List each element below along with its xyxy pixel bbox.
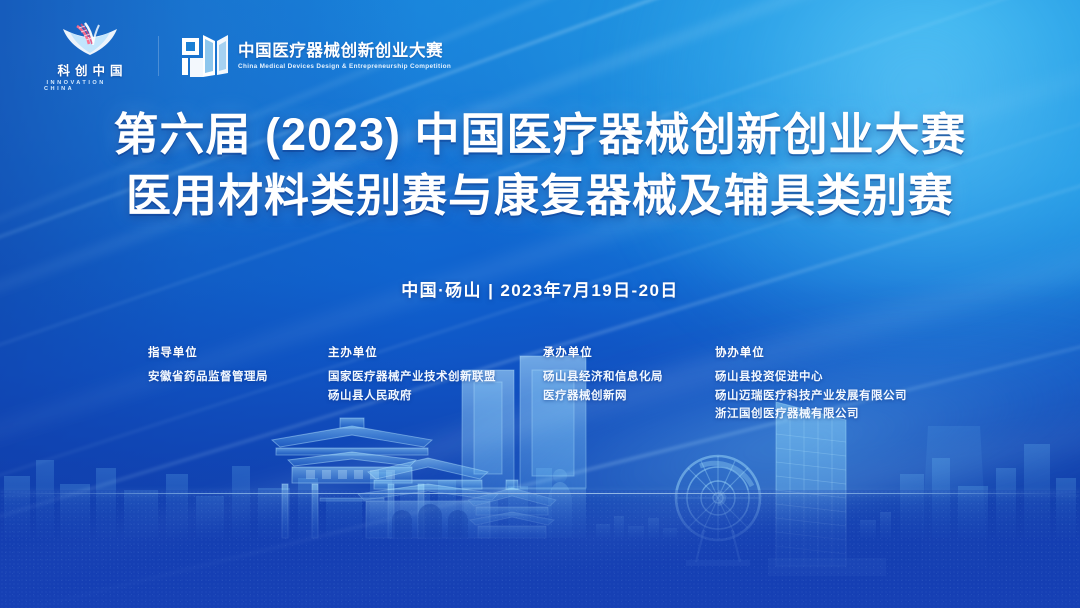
organizer-heading: 主办单位	[328, 344, 543, 360]
organizer-item: 砀山县人民政府	[328, 387, 543, 406]
organizer-item: 安徽省药品监督管理局	[148, 368, 328, 387]
event-location-date: 中国·砀山 | 2023年7月19日-20日	[0, 276, 1080, 301]
organizer-item: 砀山县经济和信息化局	[543, 368, 715, 387]
organizer-columns: 指导单位 安徽省药品监督管理局 主办单位 国家医疗器械产业技术创新联盟 砀山县人…	[148, 344, 1016, 424]
organizer-column-coorganizer: 协办单位 砀山县投资促进中心 砀山迈瑞医疗科技产业发展有限公司 浙江国创医疗器械…	[715, 344, 907, 424]
competition-name-en: China Medical Devices Design & Entrepren…	[238, 63, 451, 70]
organizer-column-guidance: 指导单位 安徽省药品监督管理局	[148, 344, 328, 424]
organizer-item: 国家医疗器械产业技术创新联盟	[328, 368, 543, 387]
innovation-china-cn: 科创中国	[52, 60, 127, 79]
organizer-heading: 协办单位	[715, 344, 907, 360]
organizer-item: 浙江国创医疗器械有限公司	[715, 405, 907, 424]
innovation-china-en: INNOVATION CHINA	[44, 80, 136, 92]
open-door-gateway-icon	[181, 33, 229, 79]
phoenix-dna-ribbon-icon	[59, 20, 121, 58]
organizer-item: 砀山县投资促进中心	[715, 368, 907, 387]
title-line-2: 医用材料类别赛与康复器械及辅具类别赛	[0, 165, 1080, 226]
innovation-china-logo: 科创中国 INNOVATION CHINA	[44, 20, 136, 92]
poster-title-block: 第六届 (2023) 中国医疗器械创新创业大赛 医用材料类别赛与康复器械及辅具类…	[0, 104, 1080, 226]
organizer-item: 砀山迈瑞医疗科技产业发展有限公司	[715, 387, 907, 406]
competition-logo: 中国医疗器械创新创业大赛 China Medical Devices Desig…	[181, 33, 451, 79]
header-logo-row: 科创中国 INNOVATION CHINA 中国医疗器械创新创业大赛 China…	[44, 20, 451, 92]
organizer-heading: 承办单位	[543, 344, 715, 360]
title-line-1: 第六届 (2023) 中国医疗器械创新创业大赛	[0, 104, 1080, 165]
organizer-column-host: 主办单位 国家医疗器械产业技术创新联盟 砀山县人民政府	[328, 344, 543, 424]
ground-dot-texture	[0, 490, 1080, 608]
organizer-heading: 指导单位	[148, 344, 328, 360]
organizer-item: 医疗器械创新网	[543, 387, 715, 406]
competition-name-cn: 中国医疗器械创新创业大赛	[238, 42, 451, 60]
organizer-column-undertaker: 承办单位 砀山县经济和信息化局 医疗器械创新网	[543, 344, 715, 424]
conference-poster: 科创中国 INNOVATION CHINA 中国医疗器械创新创业大赛 China…	[0, 0, 1080, 608]
logo-divider	[158, 36, 159, 76]
